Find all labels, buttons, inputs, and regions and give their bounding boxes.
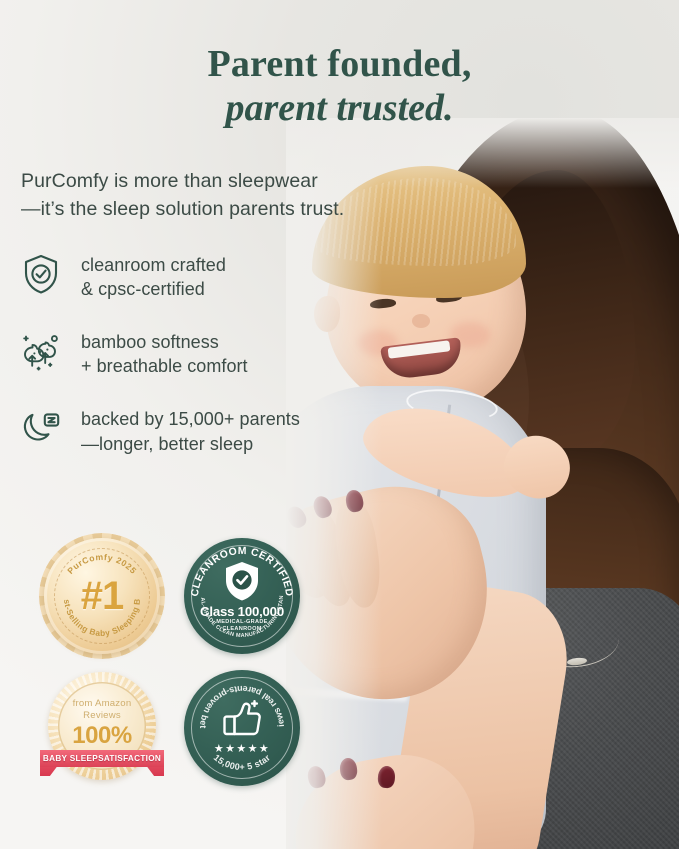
medal-top-label: from Amazon Reviews	[44, 698, 160, 722]
svg-text:15,000+ 5 star: 15,000+ 5 star	[212, 752, 273, 772]
amazon-satisfaction-medal: from Amazon Reviews 100% BABY SLEEP SATI…	[44, 670, 160, 786]
feature-line-1: bamboo softness	[81, 330, 248, 354]
thumbs-up-icon	[184, 698, 300, 738]
seal-number: #1	[44, 538, 160, 654]
badge-row-top: PurComfy 2025 Best-Selling Baby Sleeping…	[44, 538, 300, 654]
cleanroom-sublabel-line-1: MEDICAL-GRADE	[184, 619, 300, 626]
photo-left-fade	[286, 118, 382, 849]
feature-text-cleanroom: cleanroom crafted & cpsc-certified	[81, 251, 226, 301]
subheadline-line-1: PurComfy is more than sleepwear	[21, 168, 391, 196]
cleanroom-sublabel-line-2: CLEANROOM	[184, 626, 300, 633]
reviews-seal: 15,000+ 5 star reviews real parents-prov…	[184, 670, 300, 786]
feature-line-2: —longer, better sleep	[81, 432, 300, 456]
ribbon-line-2: SATISFACTION	[98, 754, 161, 763]
page-title: Parent founded, parent trusted.	[0, 43, 679, 130]
feature-text-bamboo: bamboo softness + breathable comfort	[81, 328, 248, 378]
headline-line-2: parent trusted.	[0, 87, 679, 130]
badge-row-bottom: from Amazon Reviews 100% BABY SLEEP SATI…	[44, 670, 300, 786]
cleanroom-certified-seal: CLEANROOM CERTIFIED MEDICAL-GRADE CLEAN …	[184, 538, 300, 654]
seal-arc-top: 15,000+ 5 star	[212, 752, 273, 772]
headline-line-1: Parent founded,	[0, 43, 679, 86]
moon-sleep-icon	[19, 405, 63, 451]
trust-badges: PurComfy 2025 Best-Selling Baby Sleeping…	[44, 538, 300, 802]
subheadline: PurComfy is more than sleepwear —it’s th…	[21, 168, 391, 223]
feature-item-sleep: backed by 15,000+ parents —longer, bette…	[19, 405, 349, 455]
best-seller-seal: PurComfy 2025 Best-Selling Baby Sleeping…	[44, 538, 160, 654]
promo-banner: Parent founded, parent trusted. PurComfy…	[0, 0, 679, 849]
shield-check-icon	[184, 560, 300, 602]
feature-text-sleep: backed by 15,000+ parents —longer, bette…	[81, 405, 300, 455]
feature-item-bamboo: bamboo softness + breathable comfort	[19, 328, 349, 378]
feature-list: cleanroom crafted & cpsc-certified	[19, 251, 349, 483]
lifestyle-photo	[286, 118, 679, 849]
medal-percent: 100%	[44, 722, 160, 750]
feature-line-2: & cpsc-certified	[81, 277, 226, 301]
feature-line-1: backed by 15,000+ parents	[81, 407, 300, 431]
feature-line-2: + breathable comfort	[81, 354, 248, 378]
cleanroom-class-label: Class 100,000	[184, 604, 300, 619]
toddler-nose	[412, 314, 430, 328]
cleanroom-sublabel: MEDICAL-GRADE CLEANROOM	[184, 619, 300, 634]
medal-top-line-1: from Amazon	[44, 698, 160, 710]
shield-check-icon	[19, 251, 63, 297]
reviews-stars: ★★★★★	[184, 742, 300, 755]
bamboo-softness-icon	[19, 328, 63, 374]
ribbon-line-1: BABY SLEEP	[43, 754, 98, 763]
subheadline-line-2: —it’s the sleep solution parents trust.	[21, 196, 391, 224]
medal-ribbon-label: BABY SLEEP SATISFACTION	[40, 750, 164, 767]
medal-top-line-2: Reviews	[44, 710, 160, 722]
feature-item-cleanroom: cleanroom crafted & cpsc-certified	[19, 251, 349, 301]
feature-line-1: cleanroom crafted	[81, 253, 226, 277]
